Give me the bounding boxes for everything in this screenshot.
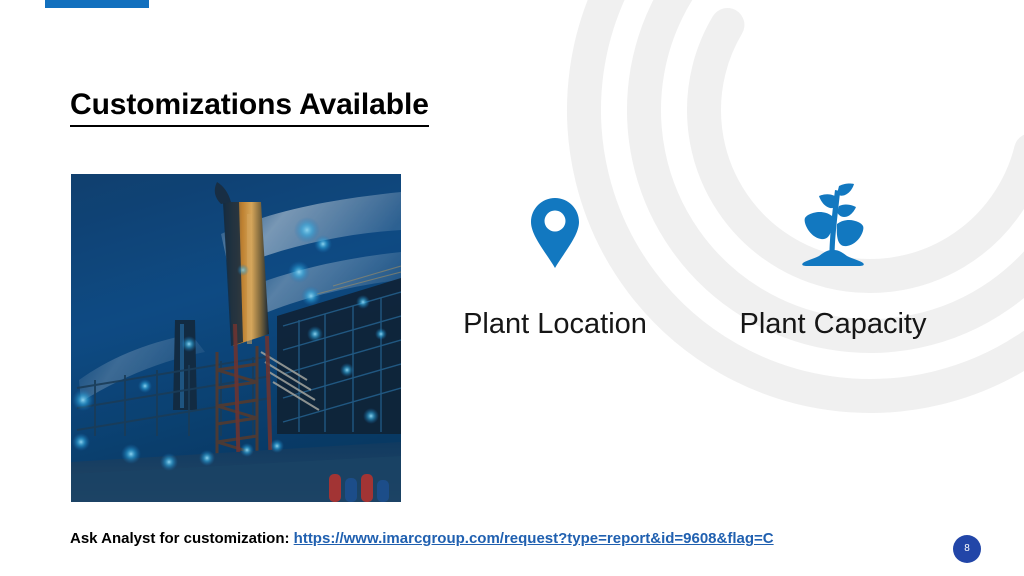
feature-plant-location: Plant Location [429, 176, 681, 339]
customization-request-link[interactable]: https://www.imarcgroup.com/request?type=… [294, 530, 774, 547]
page-number-badge: 8 [953, 535, 981, 563]
accent-bar [45, 0, 149, 8]
feature-plant-capacity: Plant Capacity [707, 176, 959, 339]
feature-label: Plant Capacity [707, 310, 959, 339]
refinery-plant-photo [71, 174, 401, 502]
footer-prompt: Ask Analyst for customization: [70, 530, 289, 547]
page-title-text: Customizations Available [70, 87, 429, 127]
map-pin-icon [429, 176, 681, 268]
seedling-plant-icon [707, 176, 959, 268]
page-number-text: 8 [964, 544, 970, 554]
feature-label: Plant Location [429, 310, 681, 339]
page-title: Customizations Available [70, 87, 429, 127]
slide-canvas: Customizations Available [0, 0, 1024, 576]
footer-cta: Ask Analyst for customization: https://w… [70, 530, 774, 548]
